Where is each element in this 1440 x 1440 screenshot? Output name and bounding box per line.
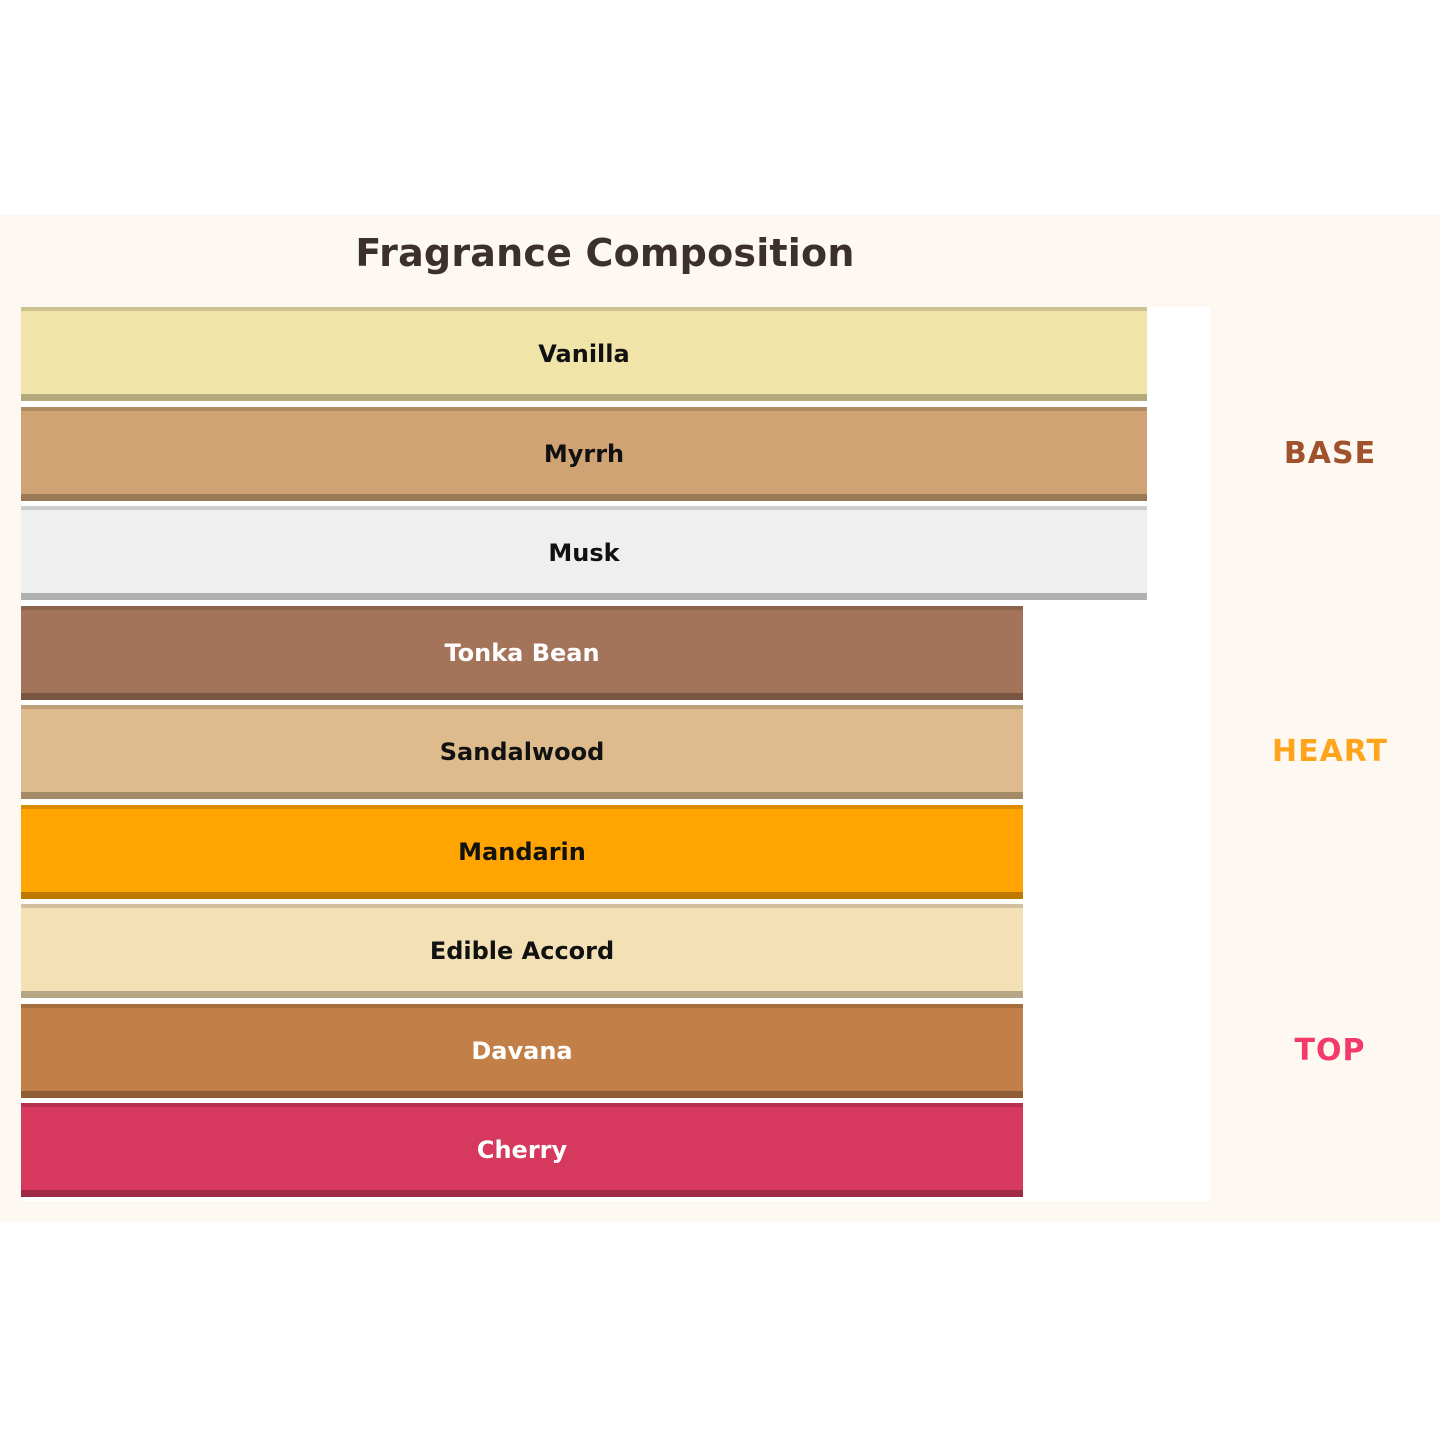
bar-bottom-shadow (21, 394, 1147, 401)
bar-row[interactable]: Myrrh (21, 407, 1147, 501)
bar-bottom-shadow (21, 892, 1023, 899)
bar-segment[interactable] (21, 904, 1023, 998)
group-label-heart: HEART (1230, 732, 1430, 772)
group-label-top: TOP (1230, 1031, 1430, 1071)
bar-top-edge (21, 1004, 1023, 1008)
bar-top-edge (21, 805, 1023, 809)
bar-row[interactable]: Davana (21, 1004, 1023, 1098)
bar-segment[interactable] (21, 307, 1147, 401)
bar-row[interactable]: Cherry (21, 1103, 1023, 1197)
plot-area: VanillaMyrrhMuskTonka BeanSandalwoodMand… (21, 307, 1210, 1201)
bar-row[interactable]: Sandalwood (21, 705, 1023, 799)
bar-bottom-shadow (21, 1190, 1023, 1197)
bar-row[interactable]: Mandarin (21, 805, 1023, 899)
bar-segment[interactable] (21, 805, 1023, 899)
group-label-base: BASE (1230, 434, 1430, 474)
bar-row[interactable]: Musk (21, 506, 1147, 600)
bar-bottom-shadow (21, 593, 1147, 600)
bar-row[interactable]: Edible Accord (21, 904, 1023, 998)
bar-bottom-shadow (21, 792, 1023, 799)
bar-row[interactable]: Vanilla (21, 307, 1147, 401)
bar-bottom-shadow (21, 693, 1023, 700)
bar-segment[interactable] (21, 1103, 1023, 1197)
bar-top-edge (21, 1103, 1023, 1107)
bar-top-edge (21, 407, 1147, 411)
bar-top-edge (21, 705, 1023, 709)
bar-bottom-shadow (21, 1091, 1023, 1098)
bar-segment[interactable] (21, 506, 1147, 600)
bar-segment[interactable] (21, 705, 1023, 799)
bar-bottom-shadow (21, 991, 1023, 998)
bar-segment[interactable] (21, 606, 1023, 700)
page-title: Fragrance Composition (0, 231, 1210, 275)
bar-bottom-shadow (21, 494, 1147, 501)
bar-top-edge (21, 606, 1023, 610)
chart-figure: Fragrance Composition VanillaMyrrhMuskTo… (0, 215, 1440, 1222)
bar-top-edge (21, 307, 1147, 311)
bar-segment[interactable] (21, 1004, 1023, 1098)
bar-segment[interactable] (21, 407, 1147, 501)
bar-top-edge (21, 904, 1023, 908)
bar-top-edge (21, 506, 1147, 510)
bar-row[interactable]: Tonka Bean (21, 606, 1023, 700)
